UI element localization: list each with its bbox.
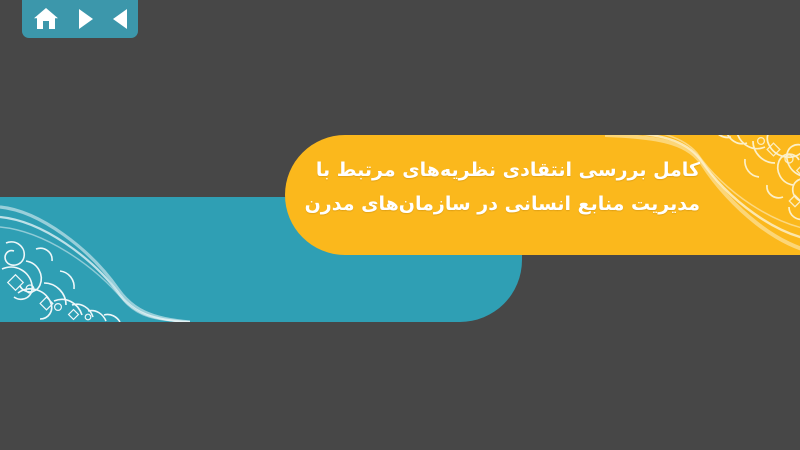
back-icon [113,9,127,29]
banner-title-line-2: مدیریت منابع انسانی در سازمان‌های مدرن [320,187,700,221]
home-icon [33,7,59,31]
forward-icon [79,9,93,29]
banner-title-line-1: کامل بررسی انتقادی نظریه‌های مرتبط با [320,153,700,187]
presentation-slide: کامل بررسی انتقادی نظریه‌های مرتبط با مد… [0,0,800,450]
forward-button[interactable] [79,9,93,29]
navigation-bar [22,0,138,38]
arabesque-ornament-mirrored [0,197,190,322]
home-button[interactable] [33,7,59,31]
banner-title: کامل بررسی انتقادی نظریه‌های مرتبط با مد… [320,153,700,221]
title-banner: کامل بررسی انتقادی نظریه‌های مرتبط با مد… [285,135,800,255]
back-button[interactable] [113,9,127,29]
